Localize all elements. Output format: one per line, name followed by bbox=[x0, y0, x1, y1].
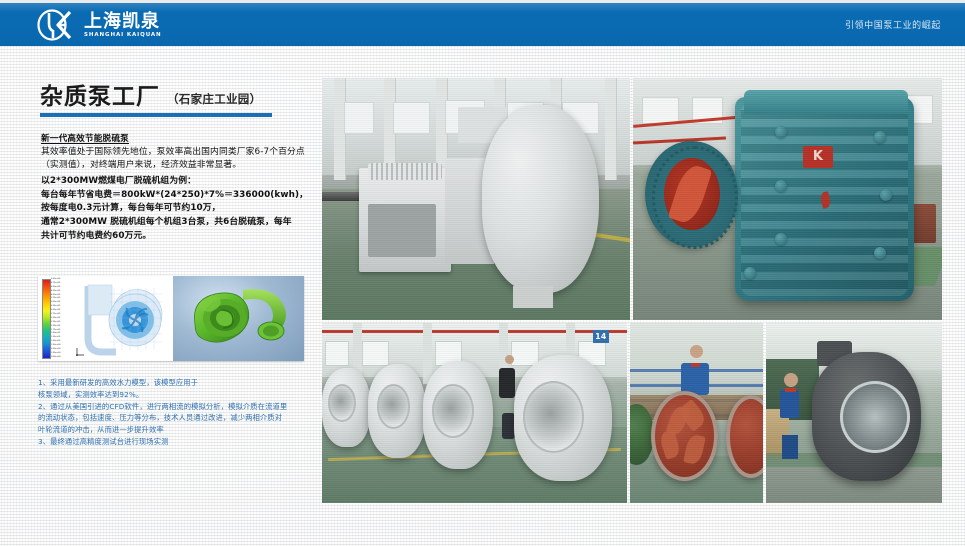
slide-root: 上海凯泉 SHANGHAI KAIQUAN 引领中国泵工业的崛起 杂质泵工厂 （… bbox=[0, 0, 965, 546]
cfd-colorbar-icon bbox=[42, 279, 51, 359]
title-underline-rule bbox=[40, 113, 272, 117]
cfd-tick: 4.75e+01 bbox=[51, 282, 77, 284]
cfd-tick: 3.75e+01 bbox=[51, 297, 77, 299]
cfd-tick: 2.00e+01 bbox=[51, 325, 77, 327]
page-title: 杂质泵工厂 bbox=[40, 85, 160, 109]
cfd-tick: 2.50e+01 bbox=[51, 317, 77, 319]
header-tagline: 引领中国泵工业的崛起 bbox=[845, 3, 941, 46]
page-subtitle: （石家庄工业园） bbox=[167, 91, 261, 109]
photo-large-casing-worker bbox=[766, 323, 942, 503]
note-item: 核泵领域，实测效率达到92%。 bbox=[38, 389, 310, 401]
cfd-tick: 4.25e+01 bbox=[51, 290, 77, 292]
cfd-image-row: 5.00e+01 4.75e+01 4.50e+01 4.25e+01 4.00… bbox=[38, 276, 304, 361]
page-title-block: 杂质泵工厂 （石家庄工业园） bbox=[40, 85, 305, 117]
example-line: 以2*300MW燃煤电厂脱硫机组为例： bbox=[41, 175, 309, 189]
intro-paragraph: 其效率值处于国际领先地位，泵效率高出国内同类厂家6-7个百分点（实测值），对终端… bbox=[41, 146, 305, 173]
cfd-tick: 1.50e+01 bbox=[51, 332, 77, 334]
cfd-tick: 3.50e+01 bbox=[51, 301, 77, 303]
cfd-mesh-plot-icon bbox=[82, 280, 168, 358]
photo-pump-casing-row-workshop: 14 bbox=[322, 323, 627, 503]
intro-lead: 新一代高效节能脱硫泵 bbox=[41, 132, 305, 144]
photo-teal-slurry-pump-casing: K bbox=[633, 78, 942, 320]
cfd-tick: 1.25e+01 bbox=[51, 336, 77, 338]
example-block: 以2*300MW燃煤电厂脱硫机组为例： 每台每年节省电费＝800kW*(24*2… bbox=[41, 175, 309, 243]
example-line: 通常2*300MW 脱硫机组每个机组3台泵，共6台脱硫泵，每年 bbox=[41, 216, 309, 230]
photo-red-impellers-worker bbox=[630, 323, 763, 503]
logo-company-en: SHANGHAI KAIQUAN bbox=[84, 33, 162, 39]
note-item: 2、通过从美国引进的CFD软件，进行两相流的模拟分析，模拟介质在流道里 bbox=[38, 401, 310, 413]
cfd-tick: 3.00e+01 bbox=[51, 309, 77, 311]
volute-3d-model-icon bbox=[181, 280, 299, 358]
kaiquan-mark-icon: K bbox=[803, 146, 833, 168]
bay-number-sign: 14 bbox=[593, 330, 609, 343]
cfd-tick: 4.50e+01 bbox=[51, 286, 77, 288]
cfd-tick: 1.75e+01 bbox=[51, 329, 77, 331]
intro-block: 新一代高效节能脱硫泵 其效率值处于国际领先地位，泵效率高出国内同类厂家6-7个百… bbox=[41, 132, 305, 173]
note-item: 的流动状态，包括速度、压力等分布，技术人员通过改进，减少两相介质对 bbox=[38, 412, 310, 424]
note-item: 叶轮流道的冲击，从而进一步提升效率 bbox=[38, 424, 310, 436]
cfd-tick: 1.00e+01 bbox=[51, 340, 77, 342]
left-column: 杂质泵工厂 （石家庄工业园） 新一代高效节能脱硫泵 其效率值处于国际领先地位，泵… bbox=[0, 45, 320, 546]
note-item: 1、采用最新研发的高效水力模型，该模型应用于 bbox=[38, 377, 310, 389]
brand-logo[interactable]: 上海凯泉 SHANGHAI KAIQUAN bbox=[36, 9, 162, 42]
cfd-tick: 4.00e+01 bbox=[51, 294, 77, 296]
title-line: 杂质泵工厂 （石家庄工业园） bbox=[40, 85, 305, 109]
photo-grid: K bbox=[322, 78, 942, 503]
page-header: 上海凯泉 SHANGHAI KAIQUAN 引领中国泵工业的崛起 bbox=[0, 3, 965, 46]
note-item: 3、最终通过高精度测试台进行现场实测 bbox=[38, 436, 310, 448]
logo-company-cn: 上海凯泉 bbox=[84, 13, 162, 31]
kaiquan-circle-logo-icon bbox=[36, 9, 78, 42]
photo-desulfurization-pump-assembly bbox=[322, 78, 630, 320]
cfd-tick: 2.75e+01 bbox=[51, 313, 77, 315]
volute-3d-green-model-image bbox=[173, 276, 304, 361]
cfd-velocity-contour-mesh-image: 5.00e+01 4.75e+01 4.50e+01 4.25e+01 4.00… bbox=[38, 276, 173, 361]
cfd-axis-indicator-icon bbox=[74, 345, 86, 357]
cfd-tick: 3.25e+01 bbox=[51, 305, 77, 307]
example-line: 每台每年节省电费＝800kW*(24*250)*7%＝336000(kwh)， bbox=[41, 189, 309, 203]
example-line: 共计可节约电费约60万元。 bbox=[41, 230, 309, 244]
logo-text-block: 上海凯泉 SHANGHAI KAIQUAN bbox=[84, 13, 162, 39]
example-line: 按每度电0.3元计算，每台每年可节约10万， bbox=[41, 202, 309, 216]
cfd-tick: 5.00e+01 bbox=[51, 278, 77, 280]
technical-notes-list: 1、采用最新研发的高效水力模型，该模型应用于 核泵领域，实测效率达到92%。 2… bbox=[38, 377, 310, 448]
cfd-tick: 2.25e+01 bbox=[51, 321, 77, 323]
